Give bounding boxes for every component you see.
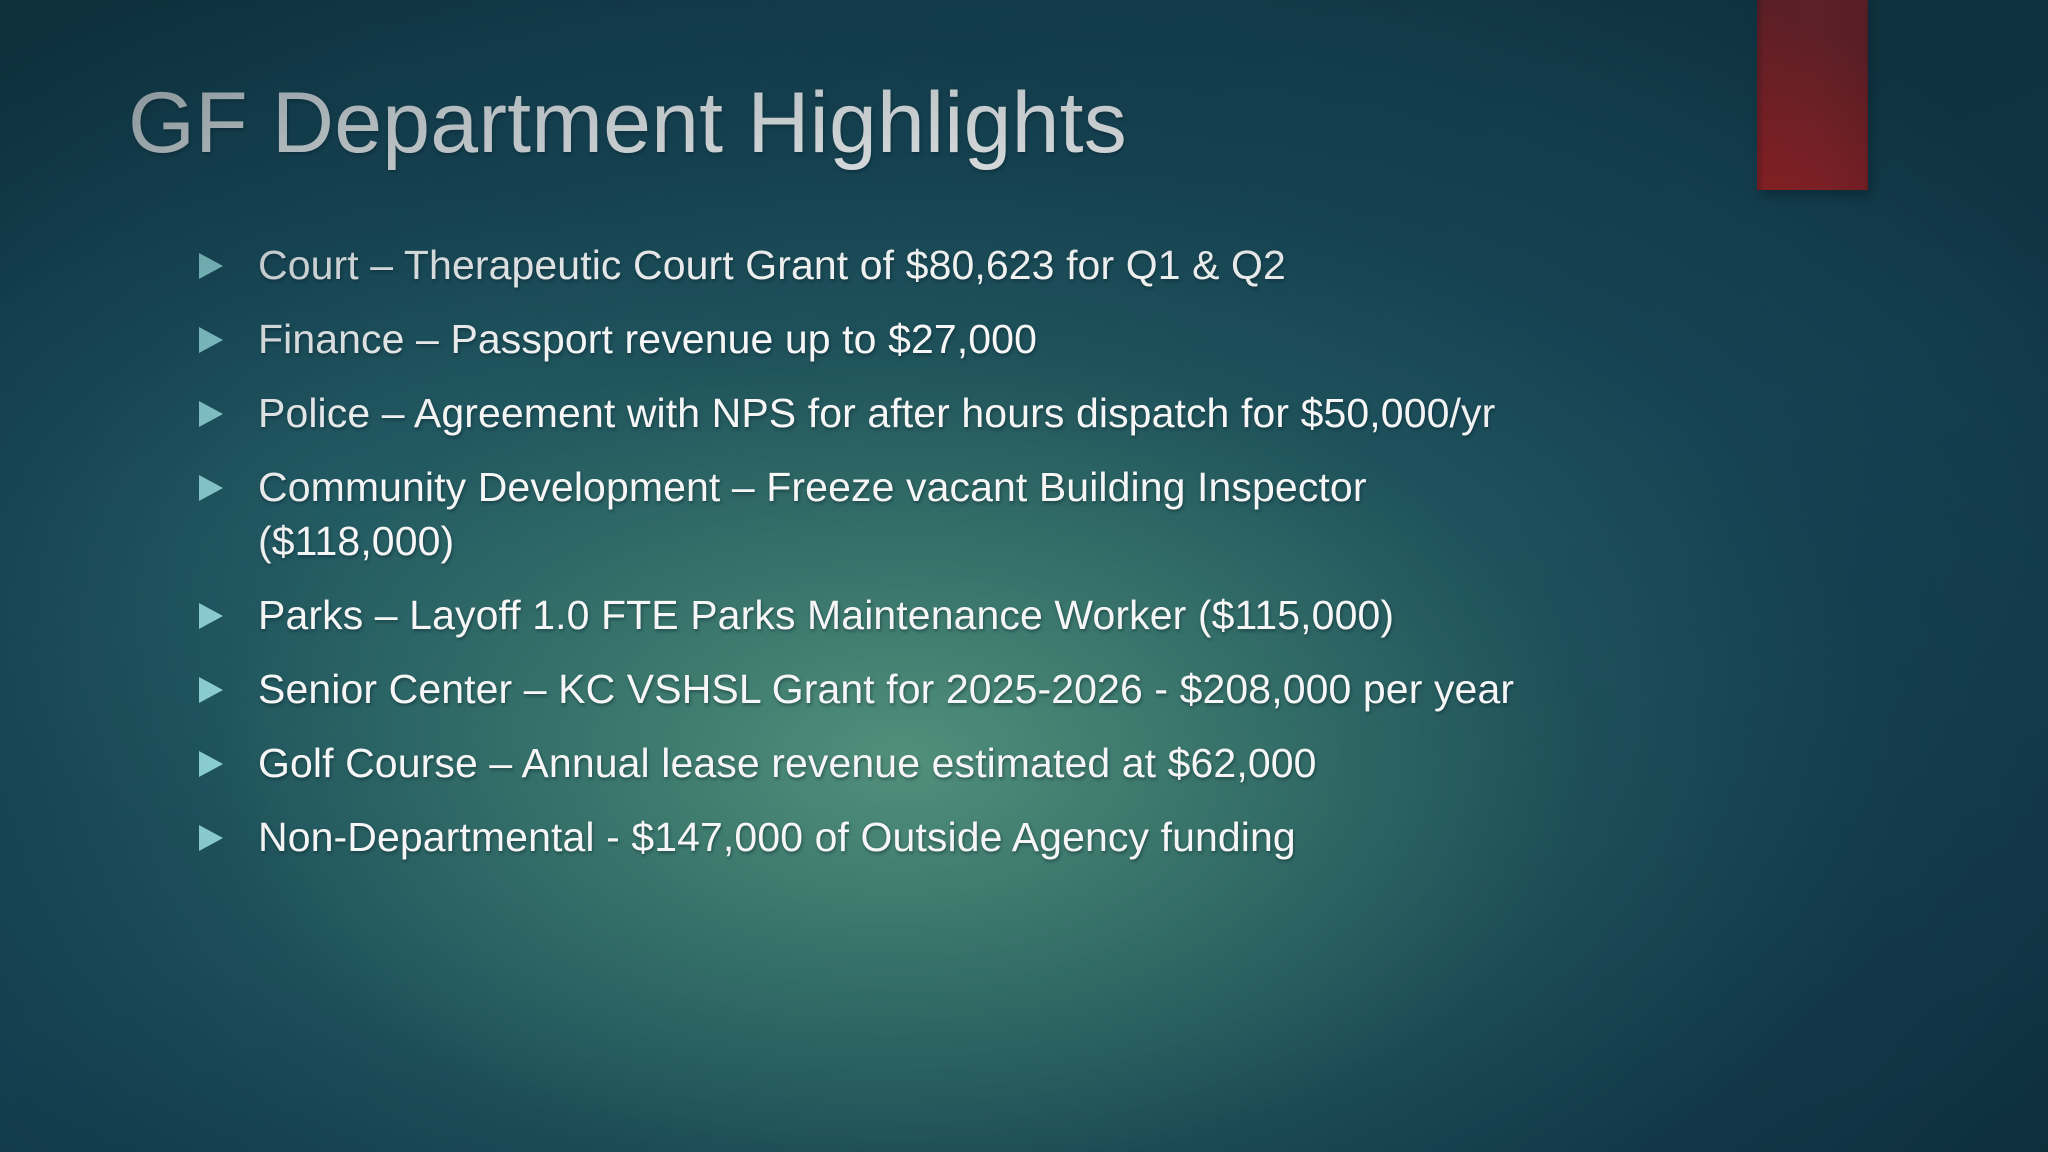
triangle-right-icon <box>196 810 258 853</box>
triangle-right-icon <box>196 312 258 355</box>
list-item-label: Finance – Passport revenue up to $27,000 <box>258 312 1676 366</box>
list-item: Senior Center – KC VSHSL Grant for 2025-… <box>196 662 1676 716</box>
red-accent-rectangle <box>1757 0 1868 190</box>
triangle-right-icon <box>196 588 258 631</box>
list-item: Court – Therapeutic Court Grant of $80,6… <box>196 238 1676 292</box>
list-item: Non-Departmental - $147,000 of Outside A… <box>196 810 1676 864</box>
list-item-label: Parks – Layoff 1.0 FTE Parks Maintenance… <box>258 588 1676 642</box>
list-item: Finance – Passport revenue up to $27,000 <box>196 312 1676 366</box>
triangle-right-icon <box>196 662 258 705</box>
bullet-list: Court – Therapeutic Court Grant of $80,6… <box>196 238 1676 884</box>
list-item-label: Court – Therapeutic Court Grant of $80,6… <box>258 238 1676 292</box>
triangle-right-icon <box>196 238 258 281</box>
list-item-label: Police – Agreement with NPS for after ho… <box>258 386 1676 440</box>
presentation-slide: GF Department Highlights Court – Therape… <box>0 0 2048 1152</box>
list-item: Police – Agreement with NPS for after ho… <box>196 386 1676 440</box>
triangle-right-icon <box>196 460 258 503</box>
list-item: Parks – Layoff 1.0 FTE Parks Maintenance… <box>196 588 1676 642</box>
triangle-right-icon <box>196 736 258 779</box>
list-item-label: Non-Departmental - $147,000 of Outside A… <box>258 810 1676 864</box>
list-item-label: Golf Course – Annual lease revenue estim… <box>258 736 1676 790</box>
list-item-label: Community Development – Freeze vacant Bu… <box>258 460 1523 568</box>
list-item-label: Senior Center – KC VSHSL Grant for 2025-… <box>258 662 1676 716</box>
triangle-right-icon <box>196 386 258 429</box>
slide-title: GF Department Highlights <box>128 78 1628 168</box>
list-item: Golf Course – Annual lease revenue estim… <box>196 736 1676 790</box>
list-item: Community Development – Freeze vacant Bu… <box>196 460 1676 568</box>
